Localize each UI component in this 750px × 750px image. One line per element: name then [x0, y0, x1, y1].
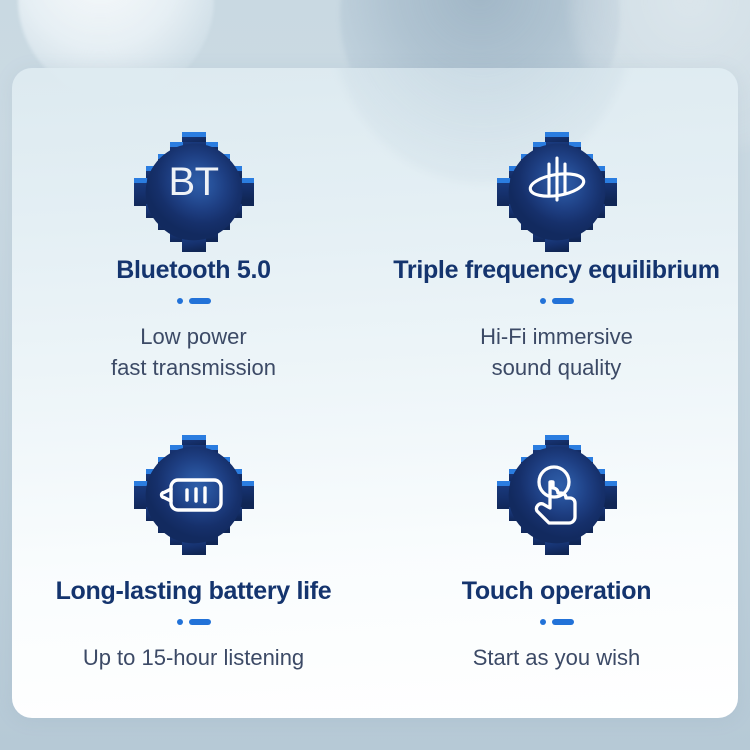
bluetooth-bt-icon: BT: [132, 132, 256, 234]
divider-dash: [552, 619, 574, 625]
feature-title: Bluetooth 5.0: [116, 256, 270, 285]
product-feature-graphic: BT Bluetooth 5.0 Low power fast transmis…: [0, 0, 750, 750]
dot-dash-divider: [540, 619, 574, 625]
feature-title: Long-lasting battery life: [56, 577, 332, 606]
divider-dash: [552, 298, 574, 304]
divider-dot: [540, 298, 546, 304]
equalizer-frequency-icon: [495, 132, 619, 234]
divider-dot: [177, 619, 183, 625]
feature-subtitle-line: Up to 15-hour listening: [83, 643, 304, 673]
dot-dash-divider: [177, 619, 211, 625]
feature-subtitle-line: fast transmission: [111, 353, 276, 383]
bt-label: BT: [168, 162, 218, 202]
feature-subtitle-line: sound quality: [480, 353, 633, 383]
feature-item-touch[interactable]: Touch operation Start as you wish: [375, 383, 738, 686]
battery-icon: [132, 435, 256, 555]
feature-grid: BT Bluetooth 5.0 Low power fast transmis…: [12, 68, 738, 718]
icon-glyph-touch: [495, 435, 619, 555]
divider-dot: [540, 619, 546, 625]
feature-item-triple-frequency[interactable]: Triple frequency equilibrium Hi-Fi immer…: [375, 80, 738, 383]
feature-subtitle: Low power fast transmission: [111, 322, 276, 383]
feature-card: BT Bluetooth 5.0 Low power fast transmis…: [12, 68, 738, 718]
feature-subtitle-line: Hi-Fi immersive: [480, 322, 633, 352]
dot-dash-divider: [540, 298, 574, 304]
feature-subtitle: Start as you wish: [473, 643, 641, 673]
divider-dash: [189, 298, 211, 304]
divider-dot: [177, 298, 183, 304]
feature-title: Touch operation: [462, 577, 651, 606]
feature-subtitle: Hi-Fi immersive sound quality: [480, 322, 633, 383]
icon-glyph-battery: [132, 435, 256, 555]
touch-hand-icon: [495, 435, 619, 555]
feature-title: Triple frequency equilibrium: [393, 256, 719, 285]
icon-glyph-equalizer: [495, 132, 619, 234]
icon-glyph-bt: BT: [132, 132, 256, 234]
divider-dash: [189, 619, 211, 625]
feature-subtitle-line: Start as you wish: [473, 643, 641, 673]
feature-item-bluetooth[interactable]: BT Bluetooth 5.0 Low power fast transmis…: [12, 80, 375, 383]
dot-dash-divider: [177, 298, 211, 304]
feature-subtitle: Up to 15-hour listening: [83, 643, 304, 673]
feature-item-battery[interactable]: Long-lasting battery life Up to 15-hour …: [12, 383, 375, 686]
feature-subtitle-line: Low power: [111, 322, 276, 352]
